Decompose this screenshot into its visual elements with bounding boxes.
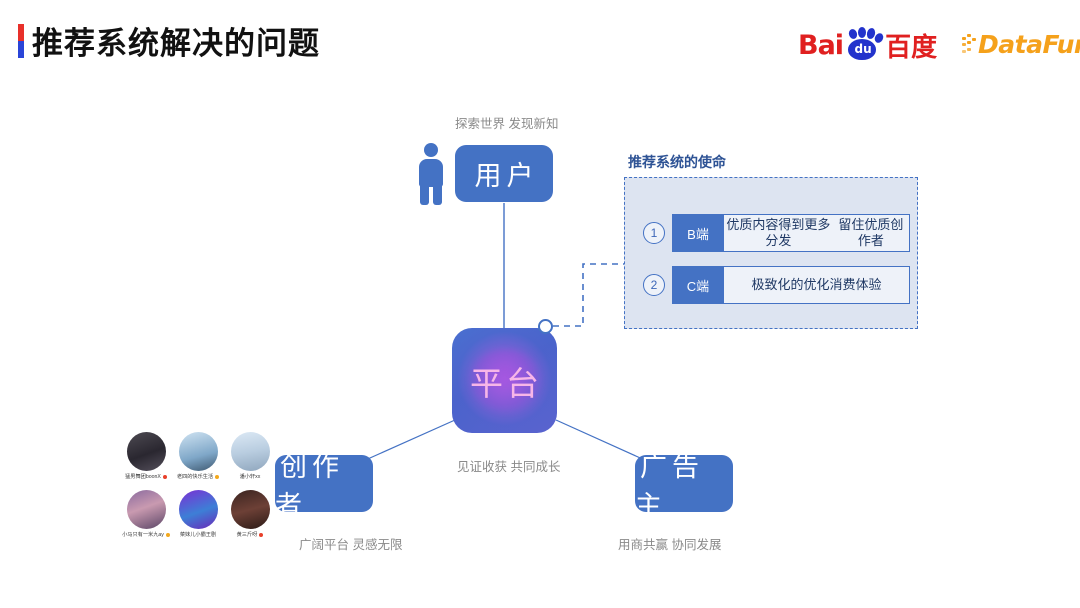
mission-item-text: 优质内容得到更多分发留住优质创作者 <box>724 214 910 252</box>
center-caption: 见证收获 共同成长 <box>457 456 560 475</box>
mission-item-number: 2 <box>643 274 665 296</box>
platform-connector-knob[interactable] <box>538 319 553 334</box>
avatar-name: 菜妹儿小霸王剧 <box>180 531 216 539</box>
mission-item-tag: B端 <box>672 214 724 252</box>
mission-item-text: 极致化的优化消费体验 <box>724 266 910 304</box>
avatar <box>231 490 270 529</box>
avatar-cell[interactable]: 潘小轩xx <box>224 432 276 481</box>
mission-item-c[interactable]: 2 C端 极致化的优化消费体验 <box>643 266 910 304</box>
person-icon <box>415 143 447 205</box>
creator-caption: 广阔平台 灵感无限 <box>299 534 402 553</box>
user-caption: 探索世界 发现新知 <box>455 113 558 132</box>
avatar-cell[interactable]: 黄三斤呀 <box>224 490 276 539</box>
avatar-cell[interactable]: 猛男舞团boonX <box>120 432 172 481</box>
avatar-badge-icon <box>259 533 263 537</box>
avatar-cell[interactable]: 小马只有一米九ay <box>120 490 172 539</box>
advertiser-caption: 用商共赢 协同发展 <box>618 534 721 553</box>
avatar-name: 潘小轩xx <box>240 473 261 481</box>
avatar-badge-icon <box>163 475 167 479</box>
mission-item-b[interactable]: 1 B端 优质内容得到更多分发留住优质创作者 <box>643 214 910 252</box>
mission-item-number: 1 <box>643 222 665 244</box>
creator-avatar-grid: 猛男舞团boonX老四的快乐生活潘小轩xx小马只有一米九ay菜妹儿小霸王剧黄三斤… <box>120 432 276 539</box>
avatar-name: 小马只有一米九ay <box>122 531 170 539</box>
avatar-cell[interactable]: 菜妹儿小霸王剧 <box>172 490 224 539</box>
avatar <box>179 490 218 529</box>
avatar-name: 黄三斤呀 <box>237 531 264 539</box>
mission-panel: 1 B端 优质内容得到更多分发留住优质创作者 2 C端 极致化的优化消费体验 <box>624 177 918 329</box>
node-advertiser[interactable]: 广告主 <box>635 455 733 512</box>
slide-canvas: 推荐系统解决的问题 Bai du 百度 DataFun. 探索世界 发现新知 用… <box>0 0 1080 608</box>
avatar <box>127 432 166 471</box>
avatar-badge-icon <box>215 475 219 479</box>
avatar-cell[interactable]: 老四的快乐生活 <box>172 432 224 481</box>
avatar-name: 老四的快乐生活 <box>177 473 219 481</box>
node-platform[interactable]: 平台 <box>452 328 557 433</box>
avatar-name: 猛男舞团boonX <box>125 473 167 481</box>
avatar <box>231 432 270 471</box>
node-user[interactable]: 用户 <box>455 145 553 202</box>
avatar-badge-icon <box>166 533 170 537</box>
avatar <box>127 490 166 529</box>
node-platform-label: 平台 <box>467 357 542 405</box>
mission-panel-title: 推荐系统的使命 <box>628 152 726 172</box>
mission-item-tag: C端 <box>672 266 724 304</box>
avatar <box>179 432 218 471</box>
node-creator[interactable]: 创作者 <box>275 455 373 512</box>
